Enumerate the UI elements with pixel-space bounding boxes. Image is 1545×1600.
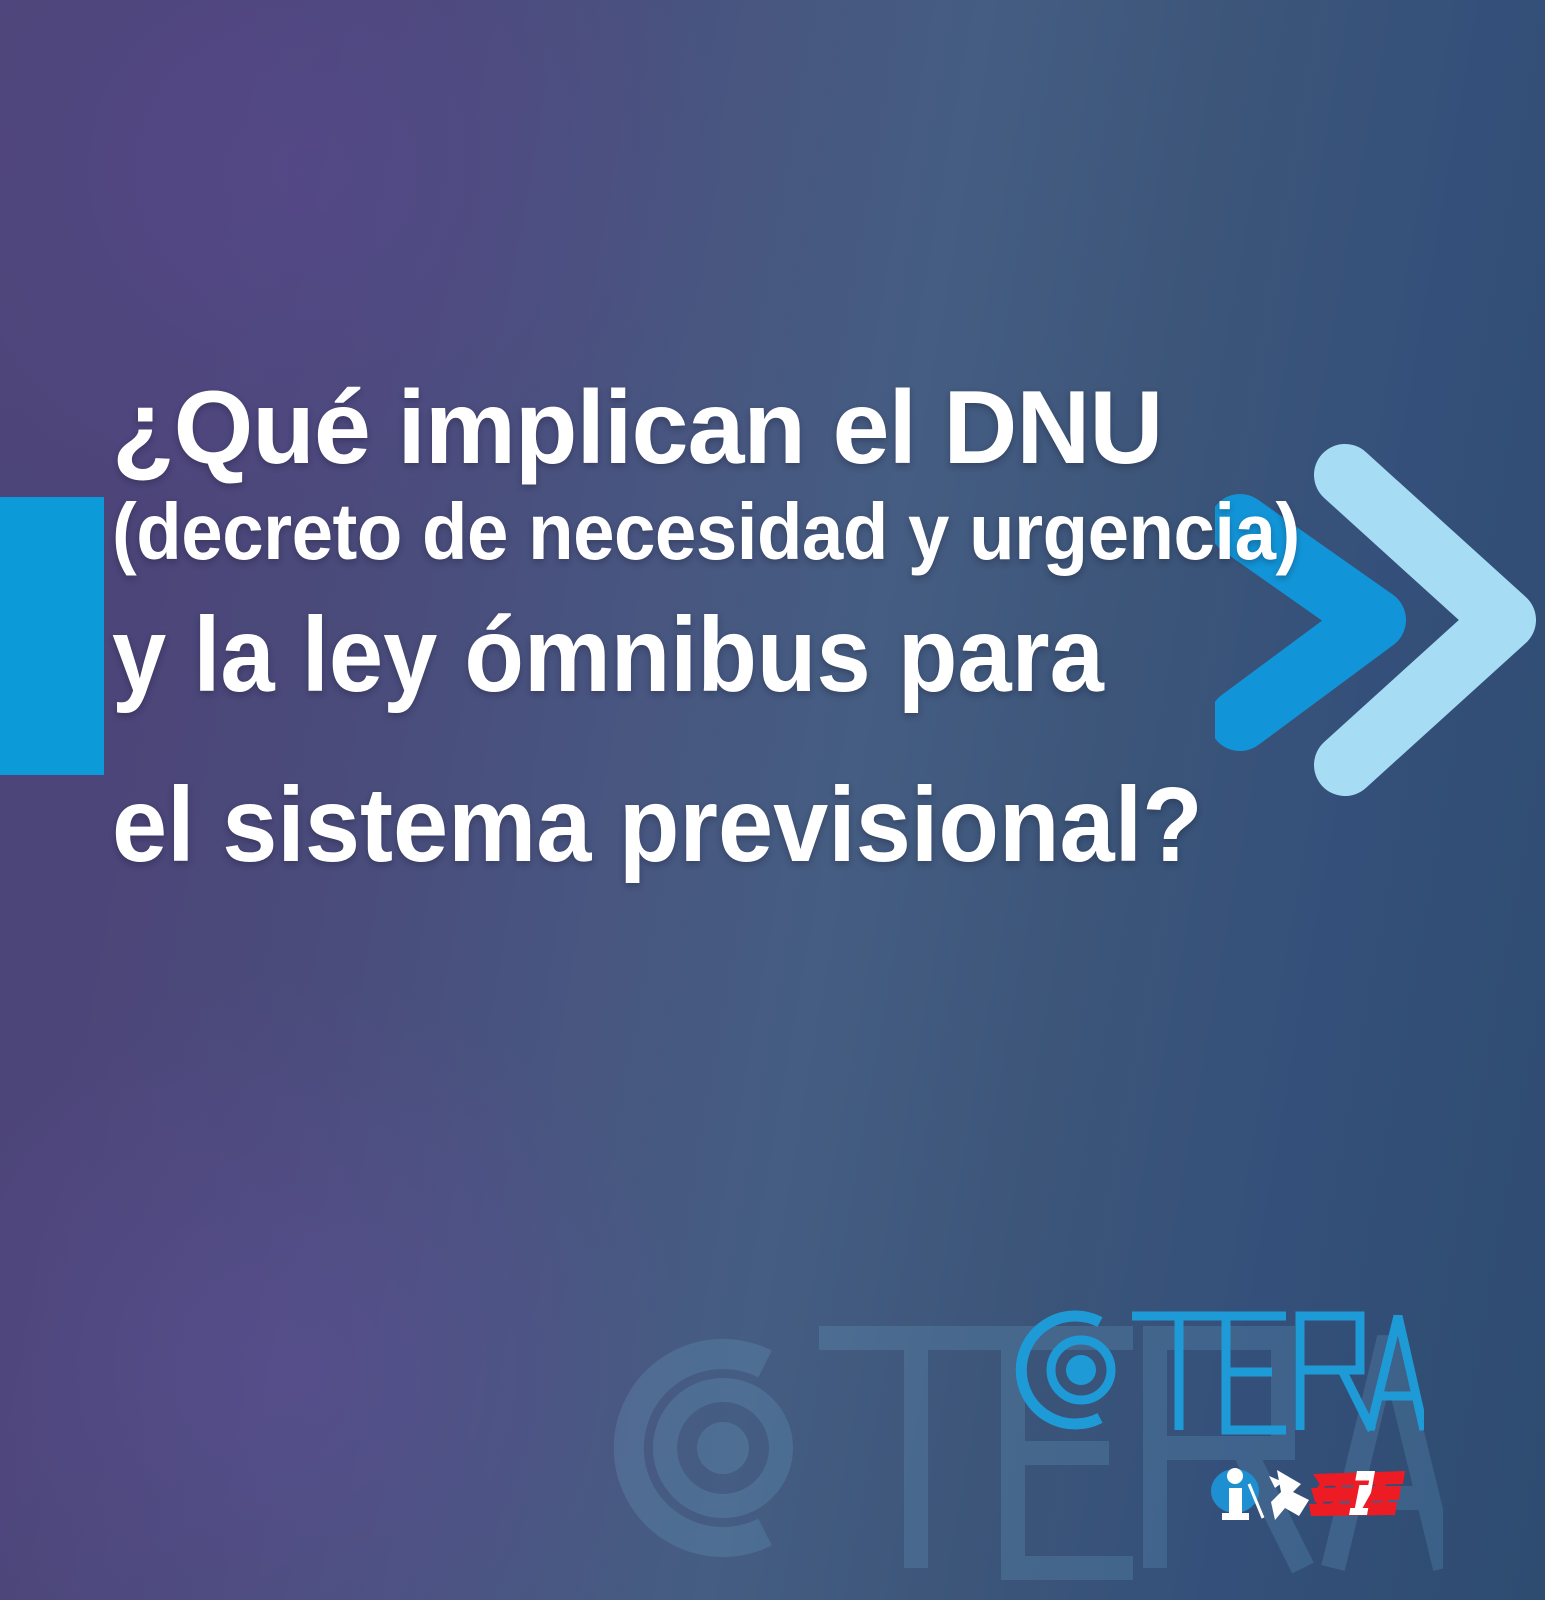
info-icon <box>1211 1468 1263 1520</box>
cta-badge-label: CTA <box>1313 1473 1392 1517</box>
accent-bar <box>0 497 104 775</box>
partner-badges: CTA <box>1205 1458 1410 1524</box>
headline-line-2: (decreto de necesidad y urgencia) <box>112 480 1349 584</box>
headline-line-3: y la ley ómnibus para <box>112 592 1336 718</box>
ctera-logo <box>1004 1300 1424 1450</box>
background-glow-bottom <box>0 820 840 1600</box>
post-canvas: ¿Qué implican el DNU (decreto de necesid… <box>0 0 1545 1600</box>
headline-line-4: el sistema previsional? <box>112 762 1356 888</box>
cta-figure-icon <box>1269 1470 1309 1520</box>
headline-block: ¿Qué implican el DNU (decreto de necesid… <box>112 372 1442 888</box>
headline-line-1: ¿Qué implican el DNU <box>112 372 1422 484</box>
